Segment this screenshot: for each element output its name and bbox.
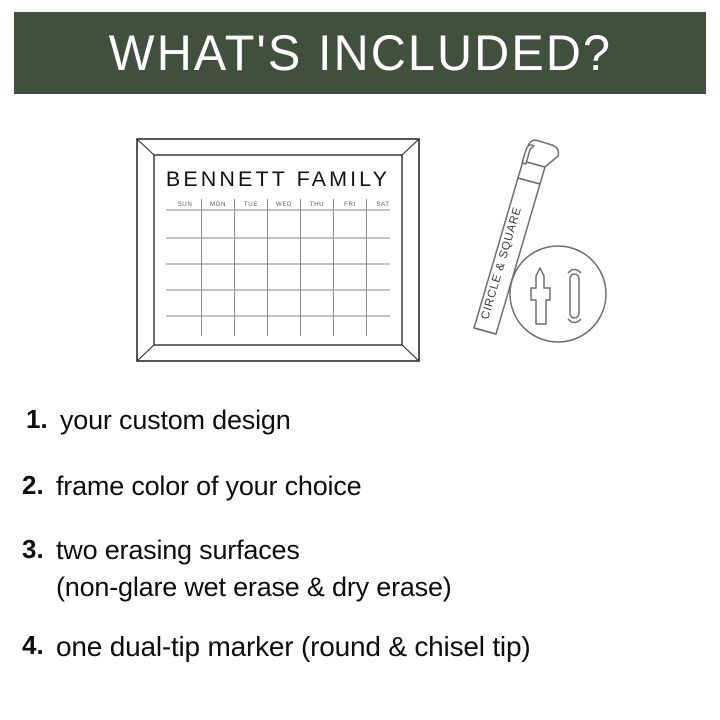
list-item-text: your custom design bbox=[60, 402, 291, 439]
calendar-illustration: BENNETT FAMILY SUN MON TUE WED THU FRI S… bbox=[136, 138, 420, 362]
day-header-mon: MON bbox=[210, 201, 226, 208]
day-header-tue: TUE bbox=[244, 201, 258, 208]
day-header-sat: SAT bbox=[376, 201, 389, 208]
page-title: WHAT'S INCLUDED? bbox=[108, 28, 611, 78]
marker-svg: CIRCLE & SQUARE bbox=[462, 142, 602, 360]
list-item-number: 1. bbox=[26, 402, 60, 436]
day-header-thu: THU bbox=[310, 201, 325, 208]
day-header-sun: SUN bbox=[178, 201, 193, 208]
list-item-text: two erasing surfaces bbox=[56, 532, 452, 569]
day-header-fri: FRI bbox=[344, 201, 356, 208]
header-banner: WHAT'S INCLUDED? bbox=[14, 12, 706, 94]
list-item: 1. your custom design bbox=[26, 402, 291, 439]
list-item-text-block: two erasing surfaces (non-glare wet eras… bbox=[56, 532, 452, 606]
calendar-board-title: BENNETT FAMILY bbox=[166, 167, 390, 191]
marker-tip-inset bbox=[510, 246, 606, 342]
tip-inset-circle bbox=[510, 246, 606, 342]
marker-illustration: CIRCLE & SQUARE bbox=[462, 142, 602, 360]
illustration-row: BENNETT FAMILY SUN MON TUE WED THU FRI S… bbox=[0, 120, 720, 370]
calendar-svg: BENNETT FAMILY SUN MON TUE WED THU FRI S… bbox=[136, 138, 420, 362]
list-item-text: one dual-tip marker (round & chisel tip) bbox=[56, 628, 530, 665]
list-item-number: 2. bbox=[22, 468, 56, 502]
list-item: 4. one dual-tip marker (round & chisel t… bbox=[22, 628, 530, 665]
list-item-text-secondary: (non-glare wet erase & dry erase) bbox=[56, 569, 452, 606]
day-header-wed: WED bbox=[276, 201, 292, 208]
round-tip-icon bbox=[568, 270, 581, 323]
list-item: 2. frame color of your choice bbox=[22, 468, 361, 505]
list-item-number: 4. bbox=[22, 628, 56, 662]
list-item-text: frame color of your choice bbox=[56, 468, 361, 505]
list-item: 3. two erasing surfaces (non-glare wet e… bbox=[22, 532, 452, 606]
list-item-number: 3. bbox=[22, 532, 56, 566]
